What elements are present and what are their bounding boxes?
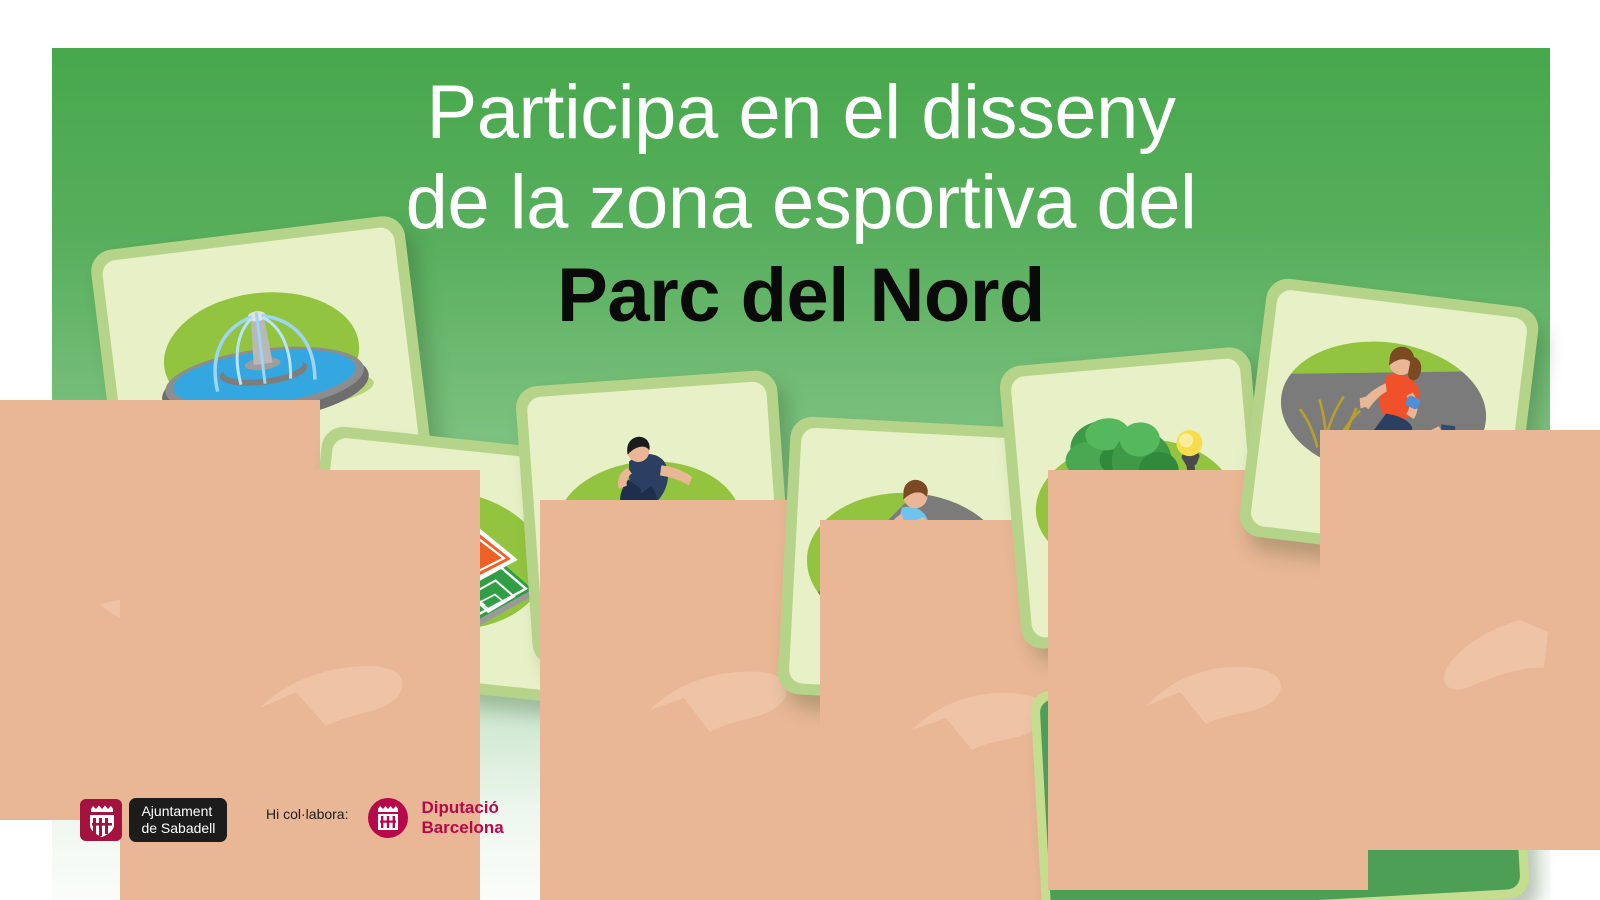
sabadell-wordmark: Ajuntament de Sabadell: [129, 798, 227, 842]
sabadell-line-2: de Sabadell: [141, 820, 215, 837]
diputacio-wordmark: Diputació Barcelona: [421, 798, 503, 838]
collaborate-label: Hi col·labora:: [266, 806, 348, 822]
diputacio-line-2: Barcelona: [421, 818, 503, 838]
hand-6: [1320, 430, 1600, 850]
diputacio-line-1: Diputació: [421, 798, 503, 818]
sabadell-line-1: Ajuntament: [141, 803, 215, 820]
diputacio-crest-icon: [368, 798, 408, 838]
banner-root: Participa en el disseny de la zona espor…: [0, 0, 1600, 900]
sabadell-crest-icon: [80, 799, 122, 841]
diputacio-logo[interactable]: Diputació Barcelona: [368, 798, 504, 838]
sabadell-logo[interactable]: Ajuntament de Sabadell: [80, 798, 227, 842]
